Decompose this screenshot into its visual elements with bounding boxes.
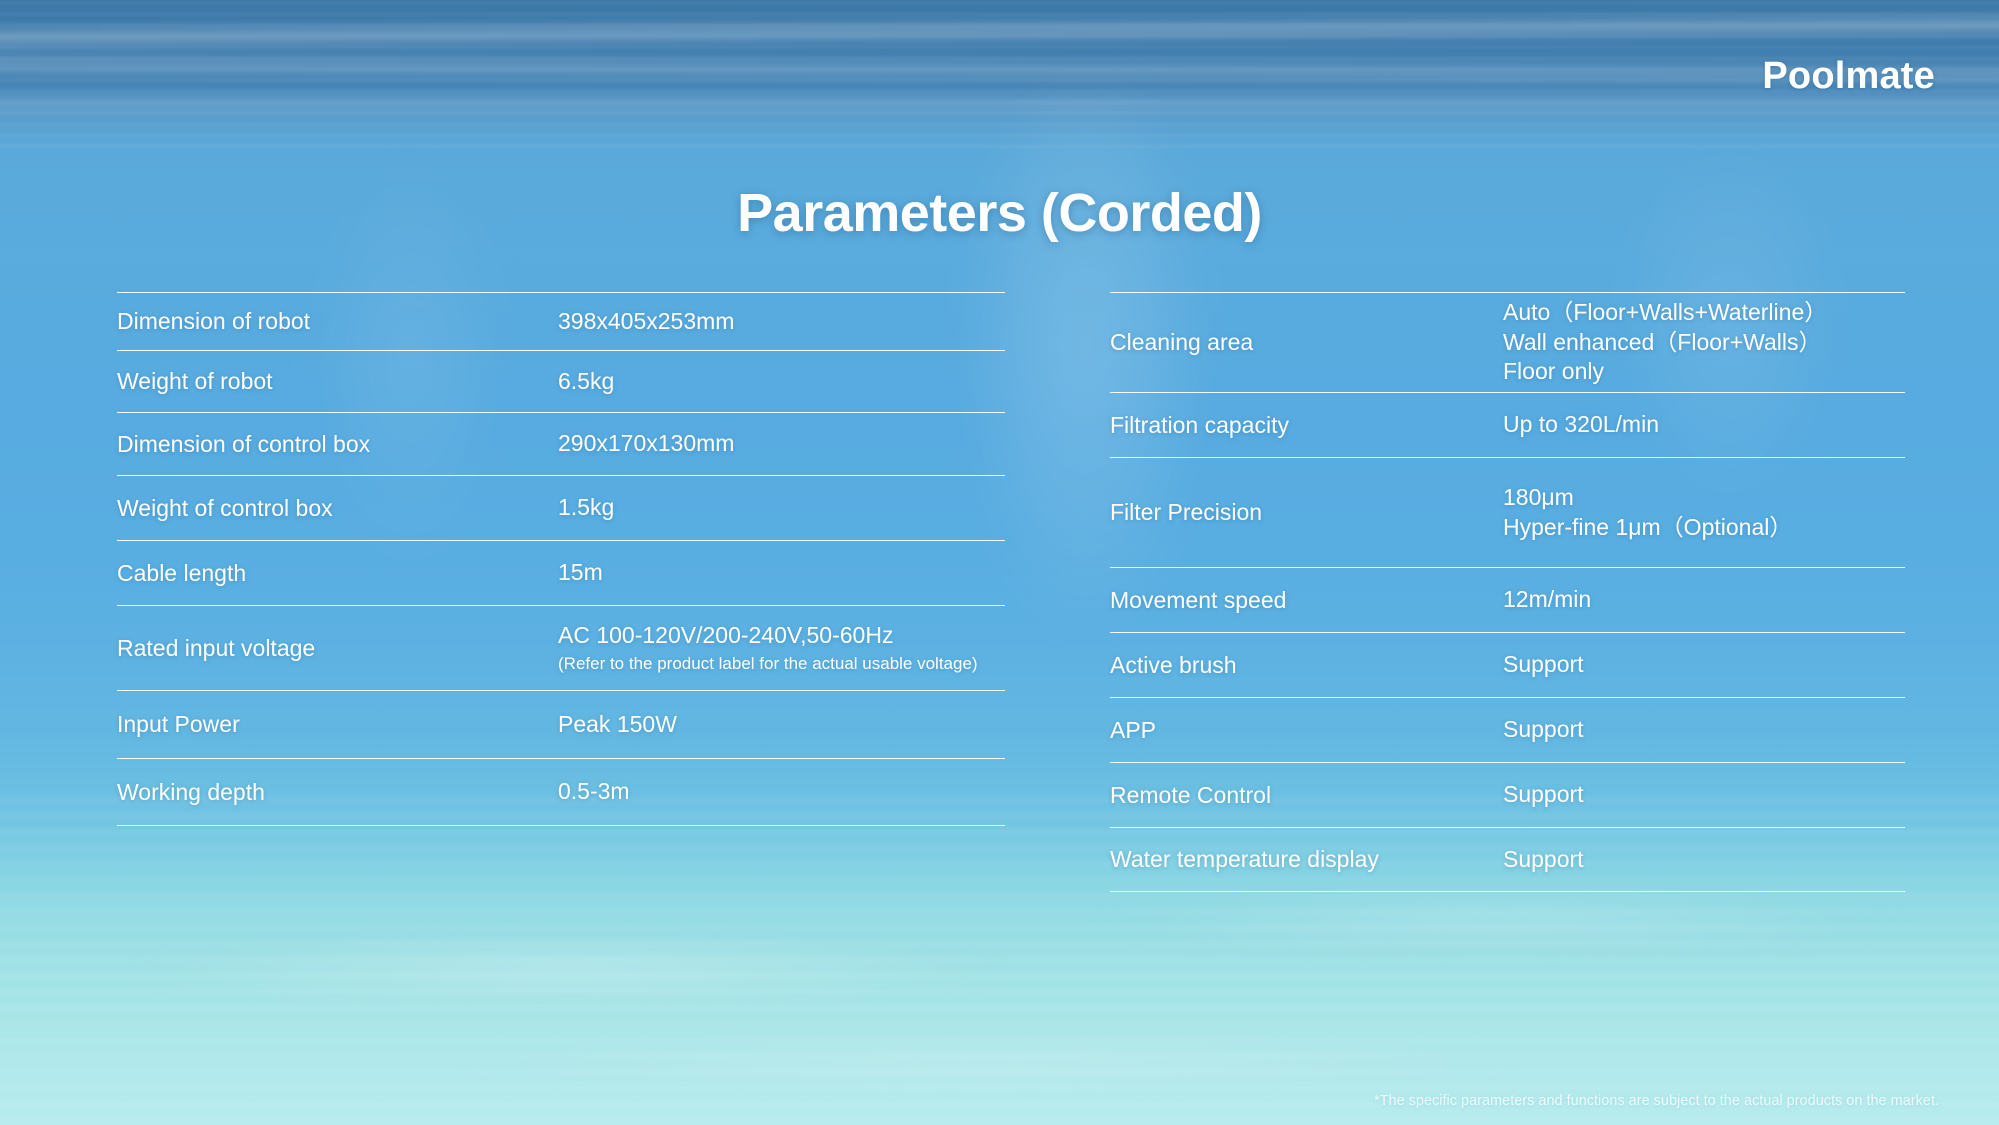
- spec-row: Input PowerPeak 150W: [117, 690, 1005, 758]
- spec-value-line: Support: [1503, 715, 1584, 745]
- spec-row: Active brushSupport: [1110, 632, 1905, 697]
- spec-value-line: 180μm: [1503, 483, 1792, 513]
- spec-row: Weight of control box1.5kg: [117, 475, 1005, 540]
- spec-label: Active brush: [1110, 651, 1503, 680]
- spec-value: Up to 320L/min: [1503, 410, 1659, 440]
- spec-row: Filter Precision180μmHyper-fine 1μm（Opti…: [1110, 457, 1905, 567]
- spec-value: Support: [1503, 650, 1584, 680]
- spec-value-line: Support: [1503, 650, 1584, 680]
- spec-label: Cable length: [117, 559, 558, 588]
- spec-value-line: 290x170x130mm: [558, 429, 734, 459]
- spec-value: Peak 150W: [558, 710, 677, 740]
- left-spec-table: Dimension of robot398x405x253mmWeight of…: [117, 292, 1005, 826]
- spec-label: Filter Precision: [1110, 498, 1503, 527]
- spec-label: Cleaning area: [1110, 328, 1503, 357]
- spec-row: Rated input voltageAC 100-120V/200-240V,…: [117, 605, 1005, 690]
- spec-value: 12m/min: [1503, 585, 1591, 615]
- spec-row: APPSupport: [1110, 697, 1905, 762]
- spec-value: 6.5kg: [558, 367, 614, 397]
- spec-row: Remote ControlSupport: [1110, 762, 1905, 827]
- spec-label: Input Power: [117, 710, 558, 739]
- spec-row: Movement speed12m/min: [1110, 567, 1905, 632]
- spec-value: 15m: [558, 558, 603, 588]
- spec-label: Dimension of control box: [117, 430, 558, 459]
- spec-value-line: 12m/min: [1503, 585, 1591, 615]
- spec-row: Filtration capacityUp to 320L/min: [1110, 392, 1905, 457]
- disclaimer-footnote: *The specific parameters and functions a…: [1374, 1093, 1939, 1109]
- spec-value-line: 15m: [558, 558, 603, 588]
- spec-value-line: Support: [1503, 780, 1584, 810]
- spec-value: Support: [1503, 780, 1584, 810]
- spec-label: Rated input voltage: [117, 634, 558, 663]
- spec-value-line: AC 100-120V/200-240V,50-60Hz: [558, 621, 978, 651]
- spec-value: 398x405x253mm: [558, 307, 734, 337]
- spec-label: Filtration capacity: [1110, 411, 1503, 440]
- spec-value: AC 100-120V/200-240V,50-60Hz(Refer to th…: [558, 621, 978, 675]
- spec-value-line: 6.5kg: [558, 367, 614, 397]
- spec-value-line: 398x405x253mm: [558, 307, 734, 337]
- spec-value: 0.5-3m: [558, 777, 630, 807]
- right-spec-table: Cleaning areaAuto（Floor+Walls+Waterline）…: [1110, 292, 1905, 892]
- spec-label: Weight of control box: [117, 494, 558, 523]
- spec-value: 290x170x130mm: [558, 429, 734, 459]
- spec-label: APP: [1110, 716, 1503, 745]
- spec-row: Dimension of control box290x170x130mm: [117, 412, 1005, 475]
- spec-label: Water temperature display: [1110, 845, 1503, 874]
- spec-value: Support: [1503, 715, 1584, 745]
- spec-value: Auto（Floor+Walls+Waterline）Wall enhanced…: [1503, 298, 1827, 388]
- spec-value: Support: [1503, 845, 1584, 875]
- page-title: Parameters (Corded): [0, 182, 1999, 244]
- spec-label: Dimension of robot: [117, 307, 558, 336]
- spec-value: 1.5kg: [558, 493, 614, 523]
- spec-row: Cleaning areaAuto（Floor+Walls+Waterline）…: [1110, 292, 1905, 392]
- spec-value-line: Floor only: [1503, 357, 1827, 387]
- spec-row: Dimension of robot398x405x253mm: [117, 292, 1005, 350]
- spec-value: 180μmHyper-fine 1μm（Optional）: [1503, 483, 1792, 543]
- spec-row: Water temperature displaySupport: [1110, 827, 1905, 892]
- spec-value-line: Up to 320L/min: [1503, 410, 1659, 440]
- brand-logo: Poolmate: [1762, 55, 1935, 98]
- spec-value-line: Auto（Floor+Walls+Waterline）: [1503, 298, 1827, 328]
- spec-label: Movement speed: [1110, 586, 1503, 615]
- spec-label: Working depth: [117, 778, 558, 807]
- spec-value-line: Wall enhanced（Floor+Walls）: [1503, 328, 1827, 358]
- spec-value-line: Support: [1503, 845, 1584, 875]
- spec-row: Working depth0.5-3m: [117, 758, 1005, 826]
- slide-canvas: Poolmate Parameters (Corded) Dimension o…: [0, 0, 1999, 1125]
- spec-value-line: Peak 150W: [558, 710, 677, 740]
- spec-label: Remote Control: [1110, 781, 1503, 810]
- spec-value-note: (Refer to the product label for the actu…: [558, 653, 978, 675]
- spec-value-line: 1.5kg: [558, 493, 614, 523]
- slide-content: Poolmate Parameters (Corded) Dimension o…: [0, 0, 1999, 1125]
- spec-label: Weight of robot: [117, 367, 558, 396]
- spec-value-line: 0.5-3m: [558, 777, 630, 807]
- spec-row: Weight of robot6.5kg: [117, 350, 1005, 412]
- spec-row: Cable length15m: [117, 540, 1005, 605]
- spec-value-line: Hyper-fine 1μm（Optional）: [1503, 513, 1792, 543]
